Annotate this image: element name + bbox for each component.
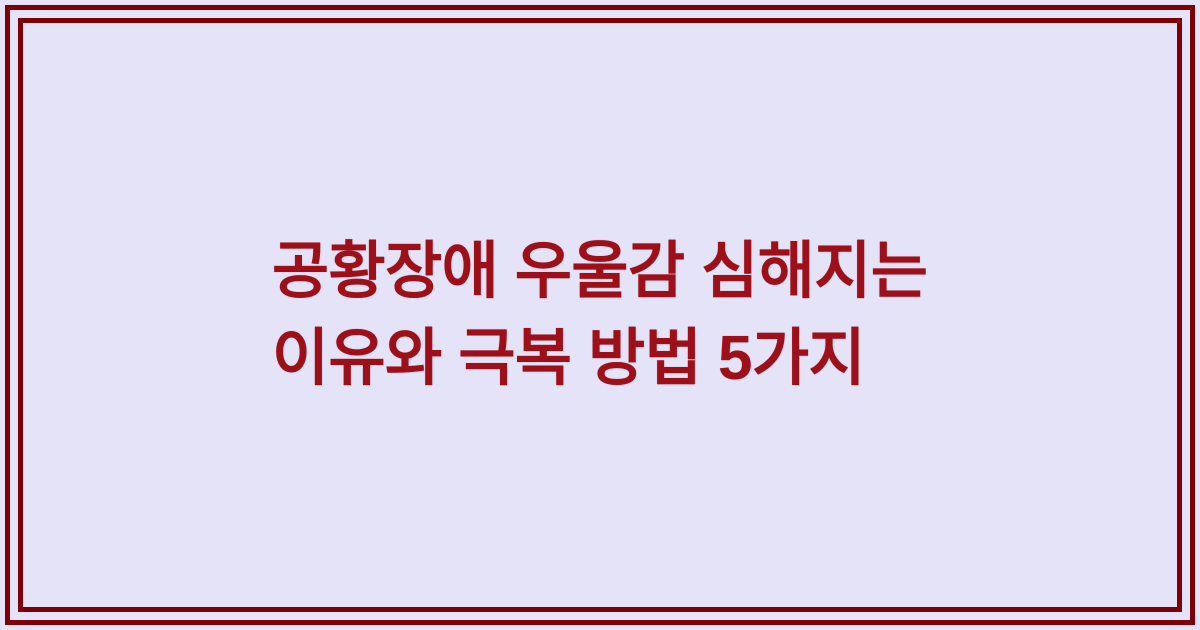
title-container: 공황장애 우울감 심해지는 이유와 극복 방법 5가지 [0, 0, 1200, 630]
page-title: 공황장애 우울감 심해지는 이유와 극복 방법 5가지 [272, 228, 952, 402]
thumbnail-card: 공황장애 우울감 심해지는 이유와 극복 방법 5가지 [0, 0, 1200, 630]
